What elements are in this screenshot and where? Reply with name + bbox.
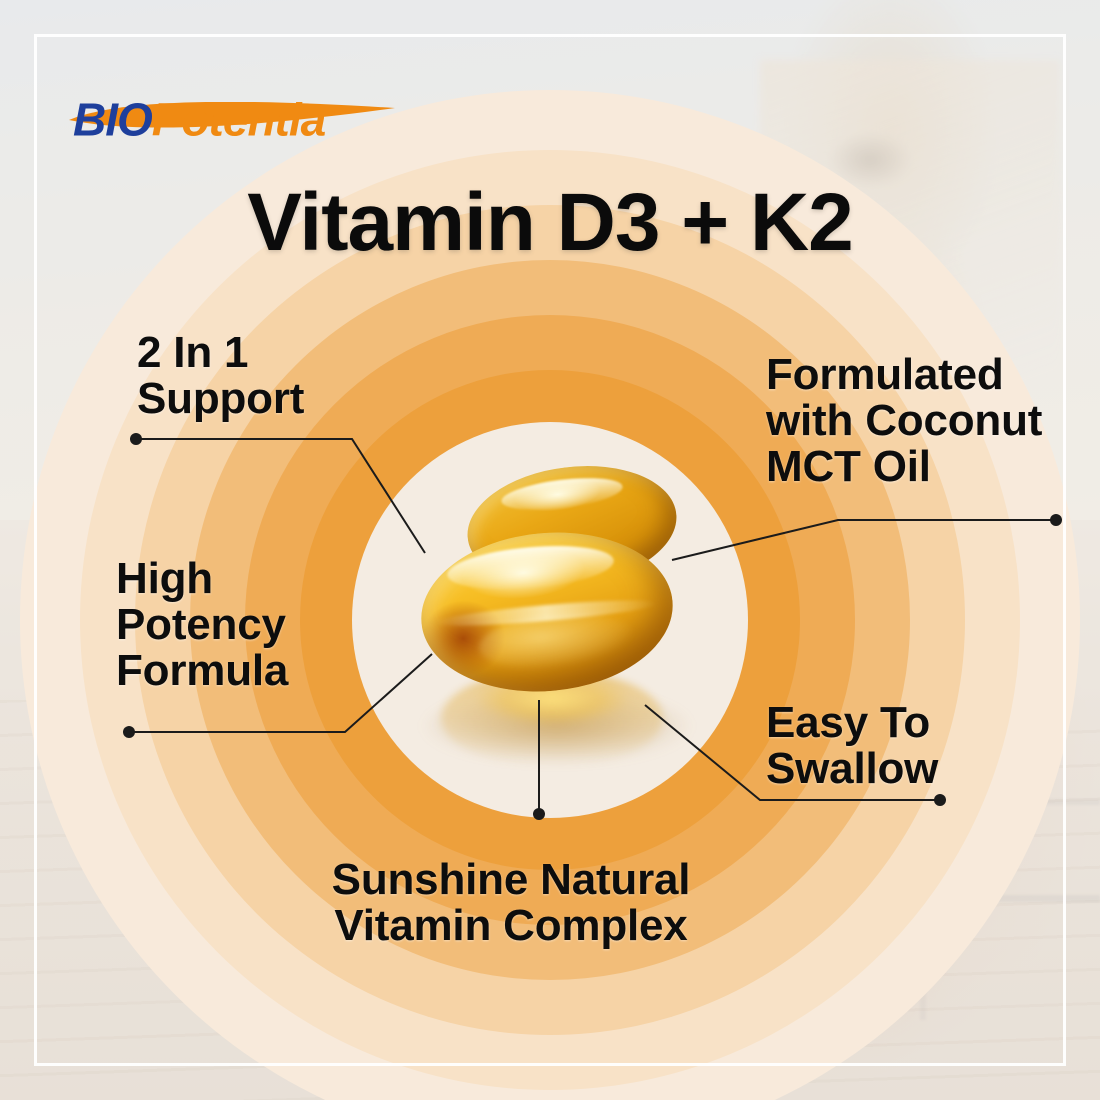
infographic-canvas: BIOPotentia™ Vitamin D3 + K2 2 In 1 Supp… xyxy=(0,0,1100,1100)
callout-sunshine-vitamin-complex: Sunshine Natural Vitamin Complex xyxy=(316,857,706,949)
callout-label: Easy To Swallow xyxy=(766,700,938,792)
callout-easy-to-swallow: Easy To Swallow xyxy=(766,700,938,792)
callout-label: 2 In 1 Support xyxy=(137,330,304,422)
callout-coconut-mct-oil: Formulated with Coconut MCT Oil xyxy=(766,352,1042,491)
callout-high-potency-formula: High Potency Formula xyxy=(116,556,288,695)
callout-label: High Potency Formula xyxy=(116,556,288,695)
logo-wordmark: BIOPotentia™ xyxy=(73,88,338,145)
callout-label: Sunshine Natural Vitamin Complex xyxy=(316,857,706,949)
softgel-capsules-image xyxy=(415,455,705,785)
page-title: Vitamin D3 + K2 xyxy=(0,176,1100,270)
brand-logo: BIOPotentia™ xyxy=(73,88,338,140)
logo-text-potentia: Potentia xyxy=(152,93,325,145)
trademark-symbol: ™ xyxy=(325,106,338,122)
callout-label: Formulated with Coconut MCT Oil xyxy=(766,352,1042,491)
logo-text-bio: BIO xyxy=(73,93,152,145)
callout-two-in-one-support: 2 In 1 Support xyxy=(137,330,304,422)
